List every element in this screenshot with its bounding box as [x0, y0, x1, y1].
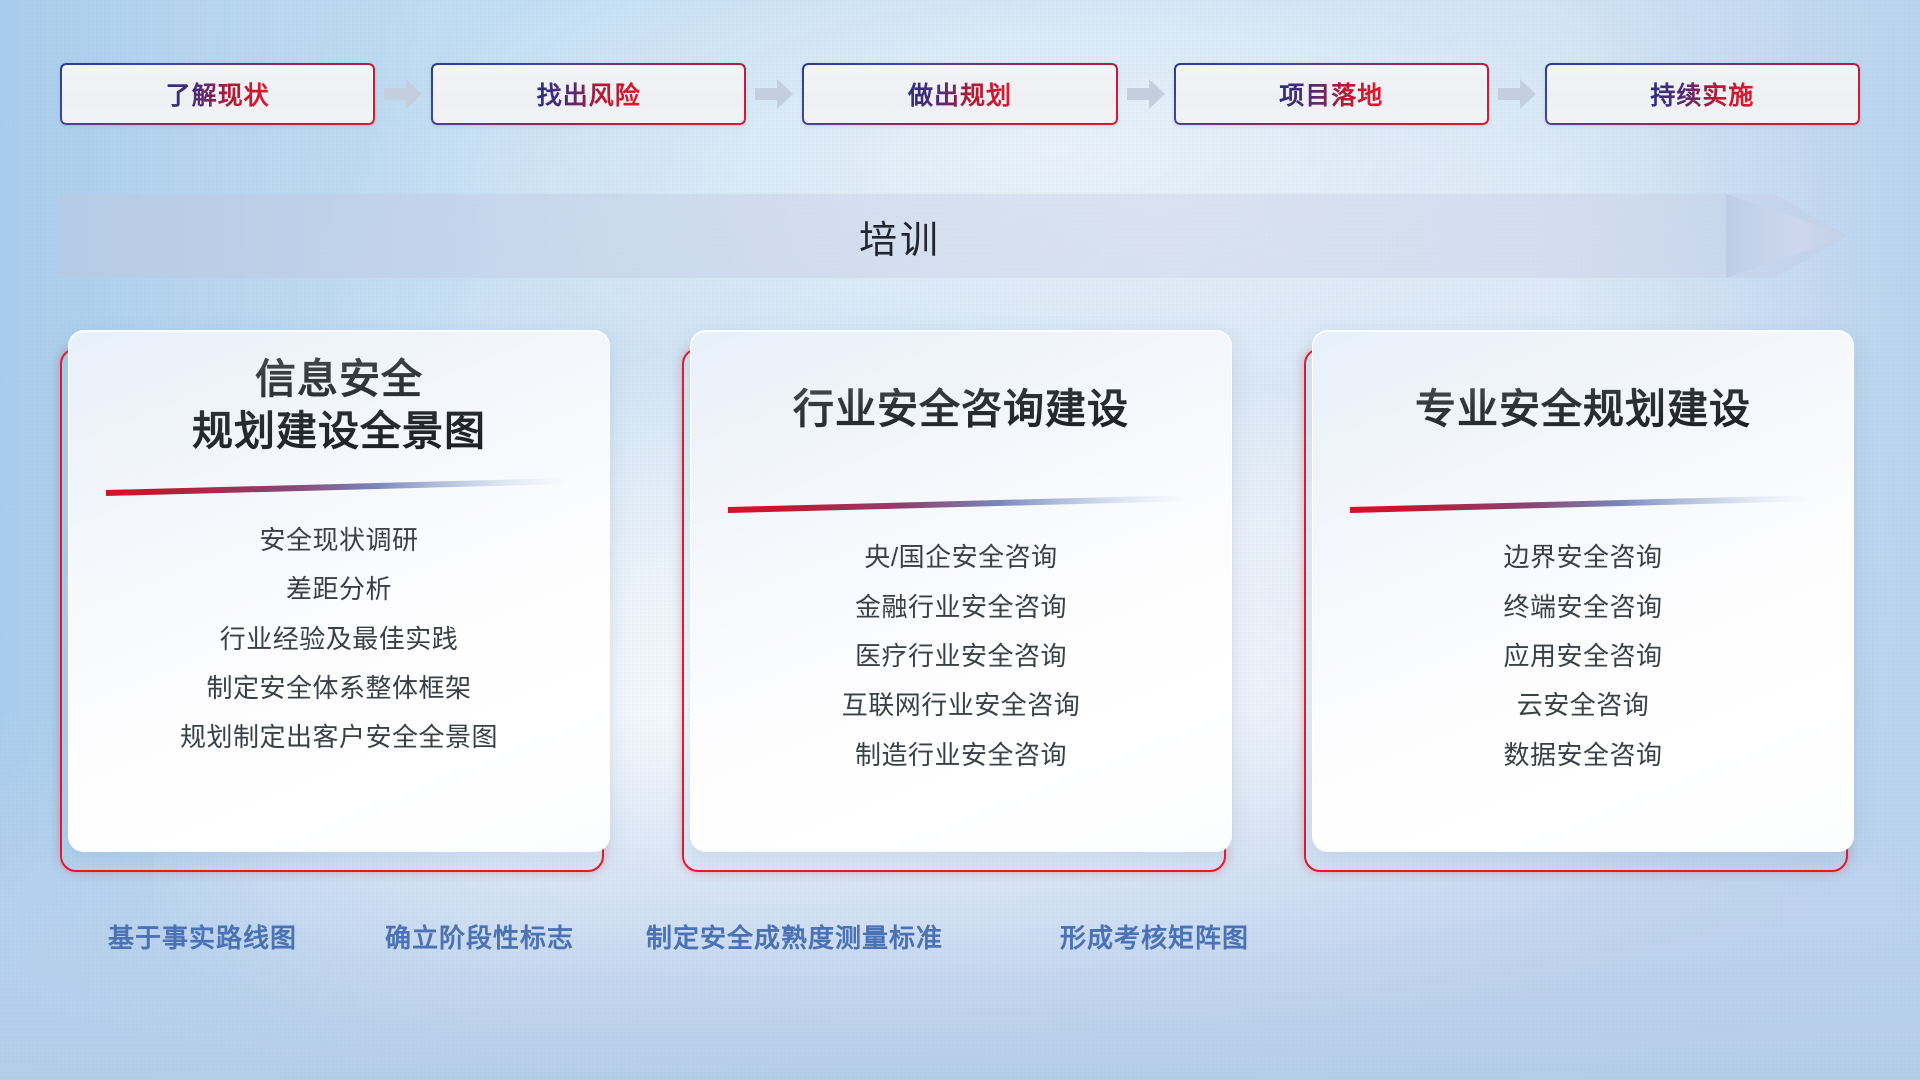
- card-1-title: 信息安全 规划建设全景图: [180, 353, 498, 458]
- card-3-item-4: 云安全咨询: [1517, 685, 1650, 725]
- card-2-item-4: 互联网行业安全咨询: [842, 685, 1081, 725]
- card-3-item-5: 数据安全咨询: [1503, 735, 1662, 775]
- card-3-item-3: 应用安全咨询: [1503, 636, 1662, 676]
- card-2[interactable]: 行业安全咨询建设: [682, 330, 1238, 870]
- step-box-5[interactable]: 持续实施: [1545, 63, 1860, 125]
- caption-row: 基于事实路线图 确立阶段性标志 制定安全成熟度测量标准 形成考核矩阵图: [60, 918, 1860, 964]
- card-2-title: 行业安全咨询建设: [781, 383, 1141, 435]
- card-3-body: 专业安全规划建设: [1312, 330, 1854, 852]
- step-label-1: 了解现状: [166, 76, 270, 112]
- cards-row: 信息安全 规划建设全景图: [60, 330, 1860, 890]
- step-connector-arrow-icon-3: [1118, 79, 1174, 109]
- gradient-divider-icon: [104, 476, 574, 498]
- card-3-title: 专业安全规划建设: [1403, 383, 1763, 435]
- card-1-title-line-1: 信息安全: [192, 353, 486, 405]
- card-3-divider: [1348, 493, 1818, 515]
- step-label-5: 持续实施: [1650, 76, 1754, 112]
- card-3-list: 边界安全咨询 终端安全咨询 应用安全咨询 云安全咨询 数据安全咨询: [1313, 537, 1853, 774]
- card-1-body: 信息安全 规划建设全景图: [68, 330, 610, 852]
- step-connector-arrow-icon-4: [1489, 79, 1545, 109]
- step-box-2[interactable]: 找出风险: [431, 63, 746, 125]
- step-box-3[interactable]: 做出规划: [802, 63, 1117, 125]
- card-2-item-3: 医疗行业安全咨询: [855, 636, 1067, 676]
- card-1[interactable]: 信息安全 规划建设全景图: [60, 330, 616, 870]
- step-connector-arrow-icon-2: [746, 79, 802, 109]
- card-1-item-2: 差距分析: [286, 569, 392, 609]
- card-1-item-1: 安全现状调研: [259, 520, 418, 560]
- card-3-item-2: 终端安全咨询: [1503, 587, 1662, 627]
- card-2-title-line-1: 行业安全咨询建设: [793, 383, 1129, 435]
- training-banner: 培训: [60, 194, 1848, 278]
- card-2-list: 央/国企安全咨询 金融行业安全咨询 医疗行业安全咨询 互联网行业安全咨询 制造行…: [691, 537, 1231, 774]
- caption-3: 制定安全成熟度测量标准: [646, 918, 943, 955]
- step-label-4: 项目落地: [1279, 76, 1383, 112]
- card-2-body: 行业安全咨询建设: [690, 330, 1232, 852]
- gradient-divider-icon: [726, 493, 1196, 515]
- caption-4: 形成考核矩阵图: [1060, 918, 1249, 955]
- step-box-1[interactable]: 了解现状: [60, 63, 375, 125]
- card-3-title-line-1: 专业安全规划建设: [1415, 383, 1751, 435]
- step-label-3: 做出规划: [908, 76, 1012, 112]
- card-1-list: 安全现状调研 差距分析 行业经验及最佳实践 制定安全体系整体框架 规划制定出客户…: [69, 520, 609, 757]
- card-1-item-5: 规划制定出客户安全全景图: [180, 717, 498, 757]
- step-label-2: 找出风险: [537, 76, 641, 112]
- card-1-divider: [104, 476, 574, 498]
- card-1-title-line-2: 规划建设全景图: [192, 405, 486, 457]
- card-2-item-5: 制造行业安全咨询: [855, 735, 1067, 775]
- gradient-divider-icon: [1348, 493, 1818, 515]
- card-2-divider: [726, 493, 1196, 515]
- step-box-4[interactable]: 项目落地: [1174, 63, 1489, 125]
- step-connector-arrow-icon-1: [375, 79, 431, 109]
- card-1-item-3: 行业经验及最佳实践: [220, 619, 459, 659]
- caption-2: 确立阶段性标志: [385, 918, 574, 955]
- banner-title: 培训: [60, 194, 1740, 278]
- card-2-item-2: 金融行业安全咨询: [855, 587, 1067, 627]
- card-2-item-1: 央/国企安全咨询: [864, 537, 1057, 577]
- card-3-item-1: 边界安全咨询: [1503, 537, 1662, 577]
- process-step-flow: 了解现状 找出风险 做出规划 项目落地 持续实施: [60, 62, 1860, 126]
- card-3[interactable]: 专业安全规划建设: [1304, 330, 1860, 870]
- caption-1: 基于事实路线图: [108, 918, 297, 955]
- card-1-item-4: 制定安全体系整体框架: [206, 668, 471, 708]
